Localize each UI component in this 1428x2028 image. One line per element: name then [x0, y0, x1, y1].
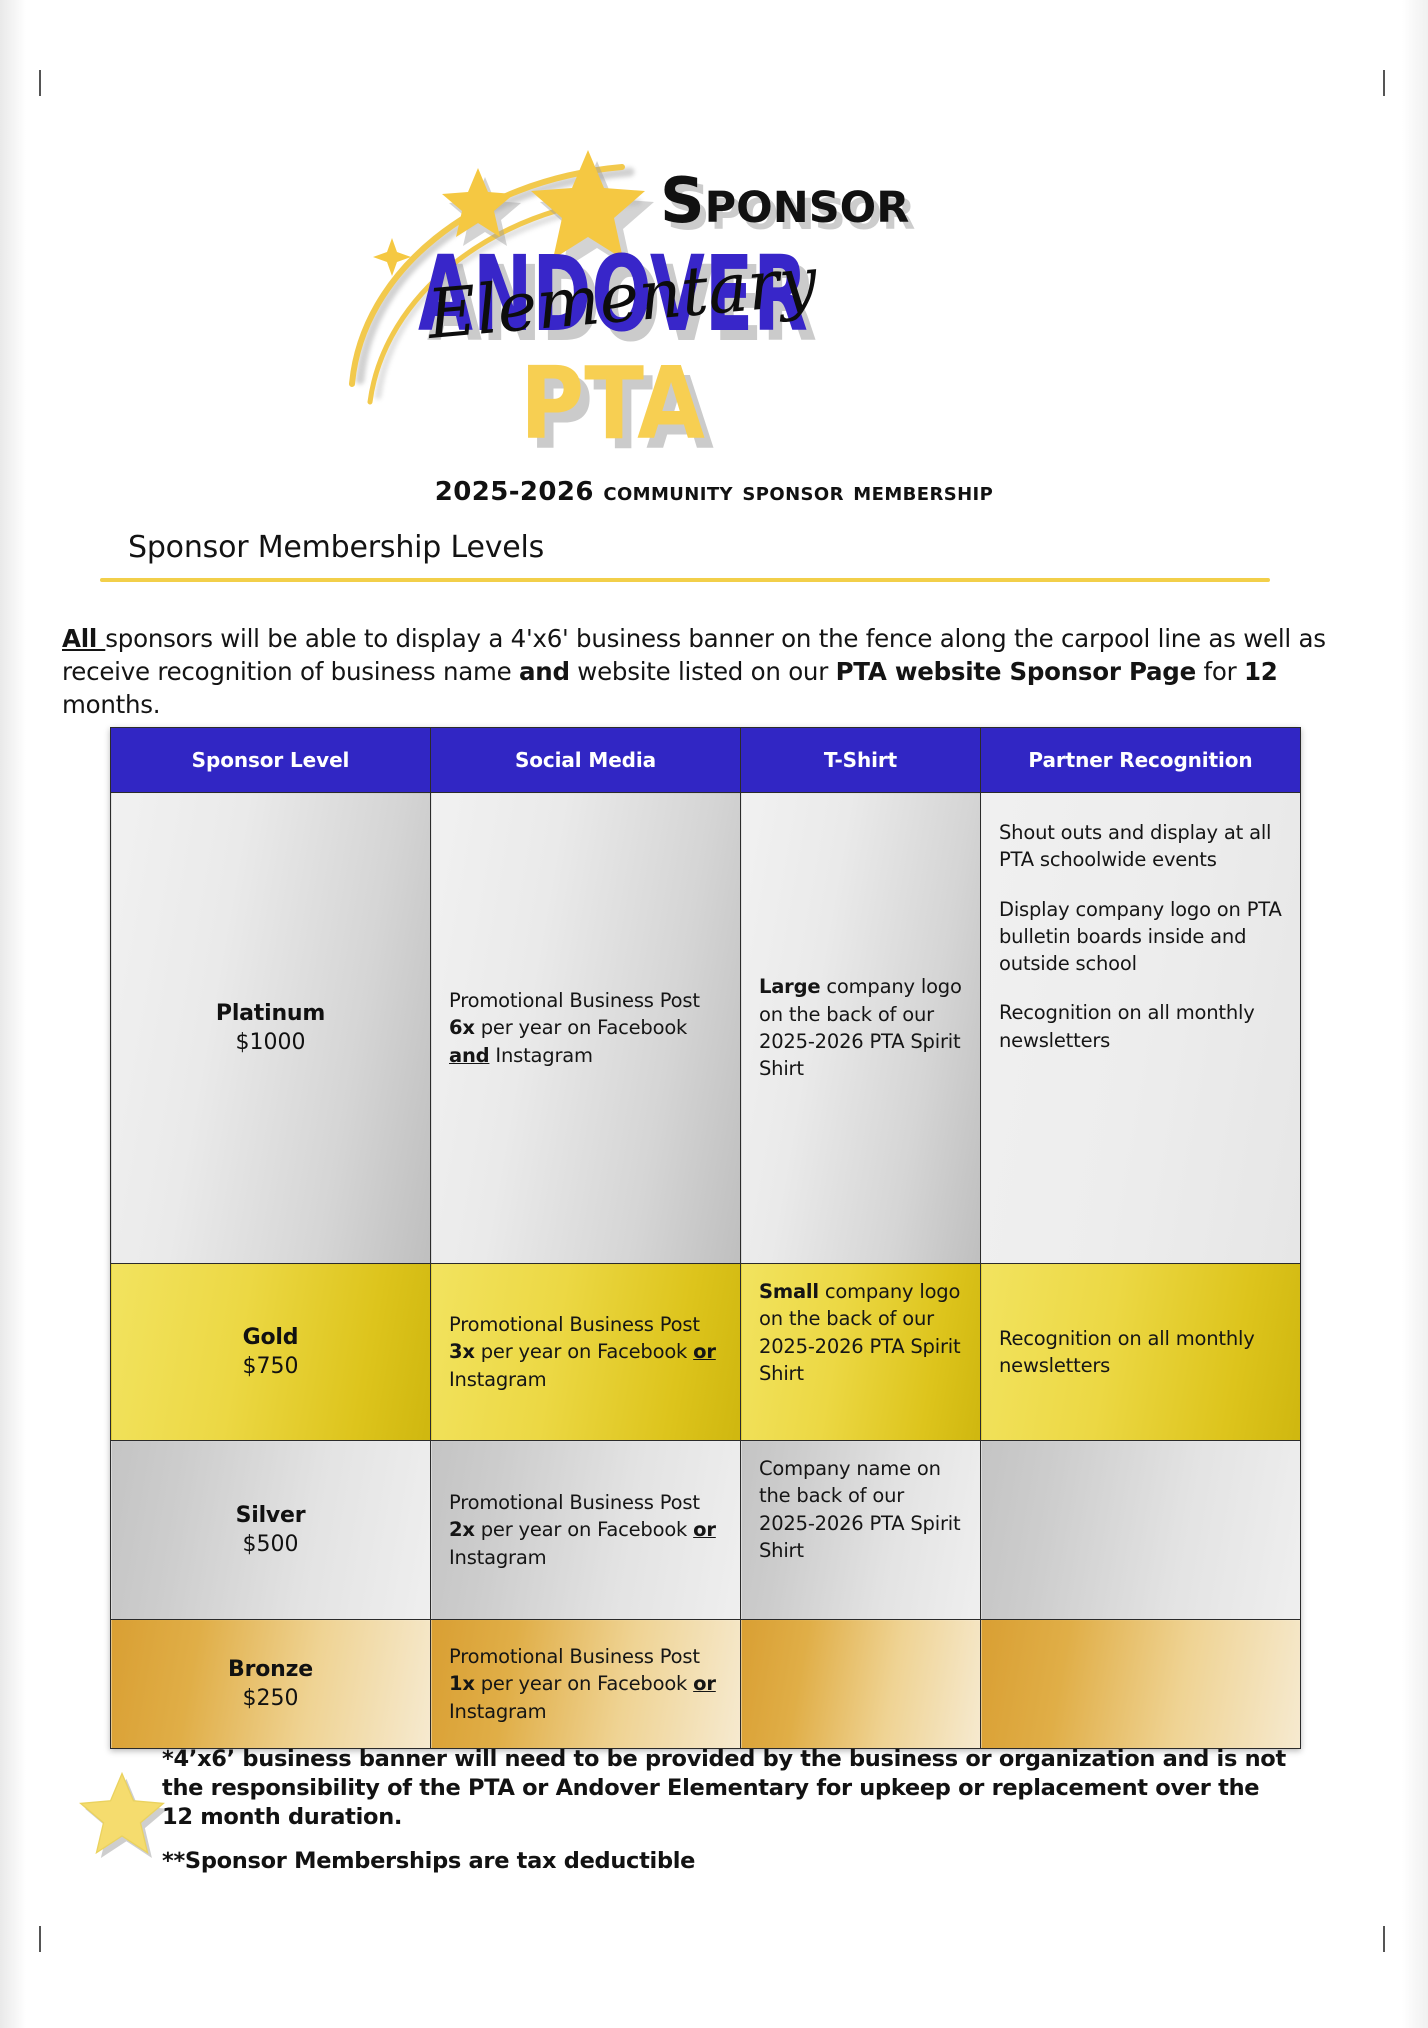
footnote-banner-disclaimer: *4’x6’ business banner will need to be p… — [162, 1745, 1292, 1831]
social-pre: Promotional Business Post — [449, 1645, 700, 1668]
level-price: $1000 — [111, 1030, 430, 1055]
partner-cell-silver — [981, 1441, 1301, 1620]
intro-text-2: website listed on our — [570, 657, 836, 686]
crop-mark-top-right — [1383, 70, 1385, 96]
social-media-cell-platinum: Promotional Business Post 6x per year on… — [431, 793, 741, 1264]
social-mid: per year on Facebook — [475, 1016, 687, 1039]
tshirt-cell-gold: Small company logo on the back of our 20… — [741, 1264, 981, 1441]
level-price: $250 — [111, 1686, 430, 1711]
social-pre: Promotional Business Post — [449, 1313, 700, 1336]
intro-months-emphasis: 12 — [1244, 657, 1278, 686]
level-cell-platinum: Platinum $1000 — [111, 793, 431, 1264]
tshirt-cell-bronze — [741, 1620, 981, 1749]
social-conjunction: or — [693, 1340, 716, 1363]
social-pre: Promotional Business Post — [449, 989, 700, 1012]
social-count: 1x — [449, 1672, 475, 1695]
tshirt-emphasis: Large — [759, 975, 820, 998]
intro-text-4: months. — [62, 690, 160, 719]
table-row: Silver $500 Promotional Business Post 2x… — [111, 1441, 1301, 1620]
partner-item: Display company logo on PTA bulletin boa… — [999, 896, 1282, 978]
social-conjunction: or — [693, 1672, 716, 1695]
social-media-cell-silver: Promotional Business Post 2x per year on… — [431, 1441, 741, 1620]
social-post: Instagram — [489, 1044, 592, 1067]
social-conjunction: or — [693, 1518, 716, 1541]
social-post: Instagram — [449, 1700, 546, 1723]
intro-all-emphasis: All — [62, 624, 105, 653]
crop-mark-bottom-right — [1383, 1926, 1385, 1952]
partner-cell-platinum: Shout outs and display at all PTA school… — [981, 793, 1301, 1264]
partner-cell-bronze — [981, 1620, 1301, 1749]
tshirt-rest: Company name on the back of our 2025-202… — [759, 1457, 960, 1562]
level-cell-gold: Gold $750 — [111, 1264, 431, 1441]
intro-paragraph: All sponsors will be able to display a 4… — [62, 622, 1352, 722]
social-mid: per year on Facebook — [475, 1672, 693, 1695]
table-row: Gold $750 Promotional Business Post 3x p… — [111, 1264, 1301, 1441]
crop-mark-top-left — [39, 70, 41, 96]
social-media-text: Promotional Business Post 3x per year on… — [431, 1297, 740, 1407]
tshirt-cell-silver: Company name on the back of our 2025-202… — [741, 1441, 981, 1620]
social-media-cell-bronze: Promotional Business Post 1x per year on… — [431, 1620, 741, 1749]
partner-text: Recognition on all monthly newsletters — [981, 1311, 1300, 1394]
social-media-text: Promotional Business Post 2x per year on… — [431, 1475, 740, 1585]
page-title: 2025-2026 Community Sponsor Membership — [0, 477, 1428, 507]
level-cell-silver: Silver $500 — [111, 1441, 431, 1620]
partner-item: Recognition on all monthly newsletters — [999, 999, 1282, 1054]
sponsor-levels-table: Sponsor Level Social Media T-Shirt Partn… — [110, 727, 1301, 1749]
intro-sponsor-page-emphasis: PTA website Sponsor Page — [836, 657, 1196, 686]
social-media-text: Promotional Business Post 1x per year on… — [431, 1629, 740, 1739]
social-mid: per year on Facebook — [475, 1340, 693, 1363]
page-title-year: 2025-2026 — [435, 477, 604, 507]
andover-pta-logo: Sponsor Sponsor ANDOVER ANDOVER Elementa… — [330, 150, 1070, 460]
tshirt-emphasis: Small — [759, 1280, 819, 1303]
tshirt-text: Company name on the back of our 2025-202… — [741, 1441, 980, 1578]
social-pre: Promotional Business Post — [449, 1491, 700, 1514]
level-name: Gold — [111, 1325, 430, 1350]
level-name: Platinum — [111, 1001, 430, 1026]
social-mid: per year on Facebook — [475, 1518, 693, 1541]
section-heading: Sponsor Membership Levels — [128, 530, 544, 565]
social-media-text: Promotional Business Post 6x per year on… — [431, 973, 740, 1083]
social-count: 6x — [449, 1016, 475, 1039]
svg-text:Sponsor: Sponsor — [660, 164, 909, 237]
star-icon — [78, 1770, 166, 1858]
tshirt-text: Large company logo on the back of our 20… — [741, 959, 980, 1096]
partner-cell-gold: Recognition on all monthly newsletters — [981, 1264, 1301, 1441]
section-divider — [100, 578, 1270, 582]
social-post: Instagram — [449, 1368, 546, 1391]
svg-text:PTA: PTA — [520, 345, 705, 460]
partner-item: Recognition on all monthly newsletters — [999, 1325, 1282, 1380]
crop-mark-bottom-left — [39, 1926, 41, 1952]
column-header-social-media: Social Media — [431, 728, 741, 793]
table-row: Platinum $1000 Promotional Business Post… — [111, 793, 1301, 1264]
level-price: $500 — [111, 1532, 430, 1557]
partner-item: Shout outs and display at all PTA school… — [999, 819, 1282, 874]
column-header-tshirt: T-Shirt — [741, 728, 981, 793]
page-title-rest: Community Sponsor Membership — [603, 477, 993, 507]
intro-and-emphasis: and — [519, 657, 570, 686]
level-name: Bronze — [111, 1657, 430, 1682]
intro-text-3: for — [1196, 657, 1244, 686]
social-count: 3x — [449, 1340, 475, 1363]
tshirt-cell-platinum: Large company logo on the back of our 20… — [741, 793, 981, 1264]
partner-text: Shout outs and display at all PTA school… — [981, 793, 1300, 1068]
level-cell-bronze: Bronze $250 — [111, 1620, 431, 1749]
document-page: Sponsor Sponsor ANDOVER ANDOVER Elementa… — [0, 0, 1428, 2028]
column-header-sponsor-level: Sponsor Level — [111, 728, 431, 793]
column-header-partner-recognition: Partner Recognition — [981, 728, 1301, 793]
social-conjunction: and — [449, 1044, 489, 1067]
tshirt-text: Small company logo on the back of our 20… — [741, 1264, 980, 1401]
social-media-cell-gold: Promotional Business Post 3x per year on… — [431, 1264, 741, 1441]
table-header-row: Sponsor Level Social Media T-Shirt Partn… — [111, 728, 1301, 793]
level-name: Silver — [111, 1503, 430, 1528]
social-count: 2x — [449, 1518, 475, 1541]
footnote-tax-deductible: **Sponsor Memberships are tax deductible — [162, 1848, 1292, 1874]
social-post: Instagram — [449, 1546, 546, 1569]
level-price: $750 — [111, 1354, 430, 1379]
table-row: Bronze $250 Promotional Business Post 1x… — [111, 1620, 1301, 1749]
